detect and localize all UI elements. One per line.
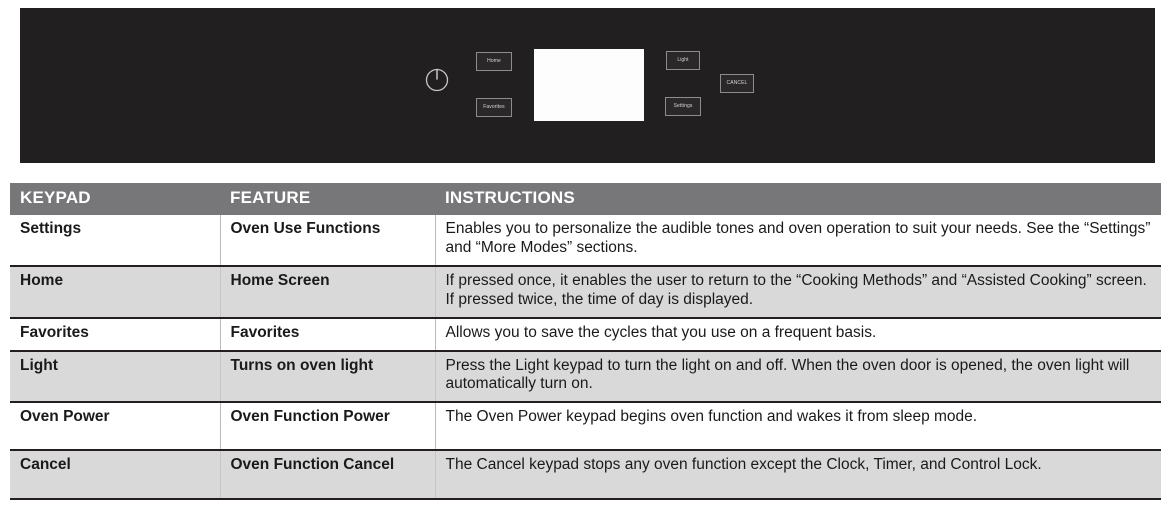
keypad-cancel[interactable]: CANCEL bbox=[720, 74, 754, 93]
keypad-settings[interactable]: Settings bbox=[665, 97, 701, 116]
table-row: Oven Power Oven Function Power The Oven … bbox=[10, 402, 1161, 450]
keypad-settings-label: Settings bbox=[674, 104, 693, 109]
table-row: Favorites Favorites Allows you to save t… bbox=[10, 318, 1161, 351]
cell-keypad: Home bbox=[10, 266, 220, 318]
cell-keypad: Oven Power bbox=[10, 402, 220, 450]
table-row: Cancel Oven Function Cancel The Cancel k… bbox=[10, 450, 1161, 498]
cell-instructions: The Oven Power keypad begins oven functi… bbox=[435, 402, 1161, 450]
keypad-cancel-label: CANCEL bbox=[727, 81, 748, 86]
keypad-home-label: Home bbox=[487, 59, 501, 64]
column-header-feature: FEATURE bbox=[220, 183, 435, 215]
table-row: Home Home Screen If pressed once, it ena… bbox=[10, 266, 1161, 318]
keypad-favorites[interactable]: Favorites bbox=[476, 98, 512, 117]
cell-keypad: Cancel bbox=[10, 450, 220, 498]
table-row: Settings Oven Use Functions Enables you … bbox=[10, 215, 1161, 266]
cell-feature: Oven Function Cancel bbox=[220, 450, 435, 498]
cell-feature: Oven Function Power bbox=[220, 402, 435, 450]
power-icon[interactable] bbox=[423, 65, 451, 93]
cell-instructions: Press the Light keypad to turn the light… bbox=[435, 351, 1161, 403]
keypad-home[interactable]: Home bbox=[476, 52, 512, 71]
cell-instructions: If pressed once, it enables the user to … bbox=[435, 266, 1161, 318]
cell-feature: Favorites bbox=[220, 318, 435, 351]
keypad-light-label: Light bbox=[677, 58, 688, 63]
cell-feature: Home Screen bbox=[220, 266, 435, 318]
keypad-light[interactable]: Light bbox=[666, 51, 700, 70]
cell-keypad: Light bbox=[10, 351, 220, 403]
cell-feature: Oven Use Functions bbox=[220, 215, 435, 266]
table-row: Light Turns on oven light Press the Ligh… bbox=[10, 351, 1161, 403]
column-header-keypad: KEYPAD bbox=[10, 183, 220, 215]
cell-feature: Turns on oven light bbox=[220, 351, 435, 403]
keypad-favorites-label: Favorites bbox=[483, 105, 504, 110]
cell-instructions: Allows you to save the cycles that you u… bbox=[435, 318, 1161, 351]
table-header-row: KEYPAD FEATURE INSTRUCTIONS bbox=[10, 183, 1161, 215]
table-bottom-rule bbox=[10, 498, 1161, 500]
cell-instructions: The Cancel keypad stops any oven functio… bbox=[435, 450, 1161, 498]
oven-control-panel: Home Favorites Light Settings CANCEL bbox=[20, 8, 1155, 163]
keypad-reference-table: KEYPAD FEATURE INSTRUCTIONS Settings Ove… bbox=[10, 183, 1161, 500]
column-header-instructions: INSTRUCTIONS bbox=[435, 183, 1161, 215]
oven-display-screen[interactable] bbox=[534, 49, 644, 121]
cell-keypad: Settings bbox=[10, 215, 220, 266]
cell-keypad: Favorites bbox=[10, 318, 220, 351]
cell-instructions: Enables you to personalize the audible t… bbox=[435, 215, 1161, 266]
